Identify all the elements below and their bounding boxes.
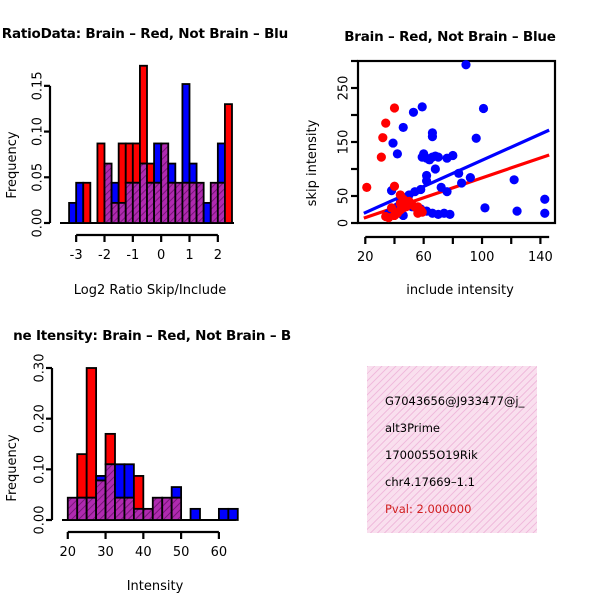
intensity-hist-bars (62, 368, 238, 520)
svg-text:30: 30 (97, 545, 114, 560)
intensity-hist-yaxis: 0.000.100.200.30 (33, 354, 53, 535)
scatter-xaxis: 2060100140 (357, 237, 553, 265)
gene-info-line: Pval: 2.000000 (385, 496, 537, 523)
svg-text:2: 2 (214, 248, 222, 263)
svg-text:100: 100 (470, 250, 495, 265)
svg-text:60: 60 (415, 250, 432, 265)
panel-scatter: Brain – Red, Not Brain – Blue 050150250 … (300, 0, 600, 310)
intensity-hist-xlabel: Intensity (127, 579, 184, 594)
svg-text:0: 0 (157, 248, 165, 263)
gene-info-line: chr4.17669–1.1 (385, 469, 537, 496)
intensity-hist-title: ne Itensity: Brain – Red, Not Brain – B (13, 328, 291, 344)
ratio-hist-title: RatioData: Brain – Red, Not Brain – Blu (2, 26, 288, 42)
svg-text:140: 140 (528, 250, 553, 265)
ratio-hist-xlabel: Log2 Ratio Skip/Include (74, 283, 226, 298)
svg-text:-1: -1 (126, 248, 139, 263)
scatter-ylabel: skip intensity (305, 119, 320, 206)
gene-info-line: 1700055O19Rik (385, 442, 537, 469)
scatter-yaxis: 050150250 (337, 61, 359, 227)
scatter-title-wrap: Brain – Red, Not Brain – Blue (300, 26, 600, 45)
intensity-hist-xaxis: 2030405060 (60, 532, 228, 560)
ratio-hist-yaxis: 0.000.050.100.15 (31, 71, 51, 237)
scatter-title: Brain – Red, Not Brain – Blue (344, 29, 556, 45)
svg-text:250: 250 (337, 76, 352, 101)
intensity-hist-title-clip: ne Itensity: Brain – Red, Not Brain – B (0, 328, 291, 348)
svg-text:50: 50 (337, 188, 352, 205)
scatter-xlabel: include intensity (406, 283, 514, 298)
svg-text:40: 40 (135, 545, 152, 560)
svg-text:0.00: 0.00 (31, 209, 46, 238)
gene-info-box: G7043656@J933477@j_alt3Prime1700055O19Ri… (367, 366, 537, 533)
svg-text:60: 60 (211, 545, 228, 560)
svg-text:-2: -2 (98, 248, 111, 263)
svg-text:0: 0 (337, 219, 352, 227)
gene-info-line: G7043656@J933477@j_ (385, 388, 537, 415)
ratio-hist-title-clip: RatioData: Brain – Red, Not Brain – Blu (0, 26, 288, 46)
svg-text:150: 150 (337, 130, 352, 155)
svg-text:0.10: 0.10 (31, 117, 46, 146)
svg-text:0.00: 0.00 (33, 506, 48, 535)
svg-text:1: 1 (185, 248, 193, 263)
panel-ratio-histogram: RatioData: Brain – Red, Not Brain – Blu … (0, 0, 300, 310)
svg-text:0.20: 0.20 (33, 404, 48, 433)
svg-text:50: 50 (173, 545, 190, 560)
svg-text:0.10: 0.10 (33, 455, 48, 484)
svg-text:-3: -3 (70, 248, 83, 263)
ratio-hist-xaxis: -3-2-1012 (70, 235, 222, 263)
svg-text:20: 20 (357, 250, 374, 265)
svg-text:0.15: 0.15 (31, 71, 46, 100)
intensity-hist-ylabel: Frequency (5, 434, 20, 501)
ratio-hist-ylabel: Frequency (5, 131, 20, 198)
gene-info-line: alt3Prime (385, 415, 537, 442)
svg-text:20: 20 (60, 545, 77, 560)
ratio-hist-bars (60, 66, 234, 223)
panel-intensity-histogram: ne Itensity: Brain – Red, Not Brain – B … (0, 310, 300, 600)
gene-info-lines: G7043656@J933477@j_alt3Prime1700055O19Ri… (367, 366, 537, 533)
svg-text:0.30: 0.30 (33, 354, 48, 383)
svg-text:0.05: 0.05 (31, 163, 46, 192)
